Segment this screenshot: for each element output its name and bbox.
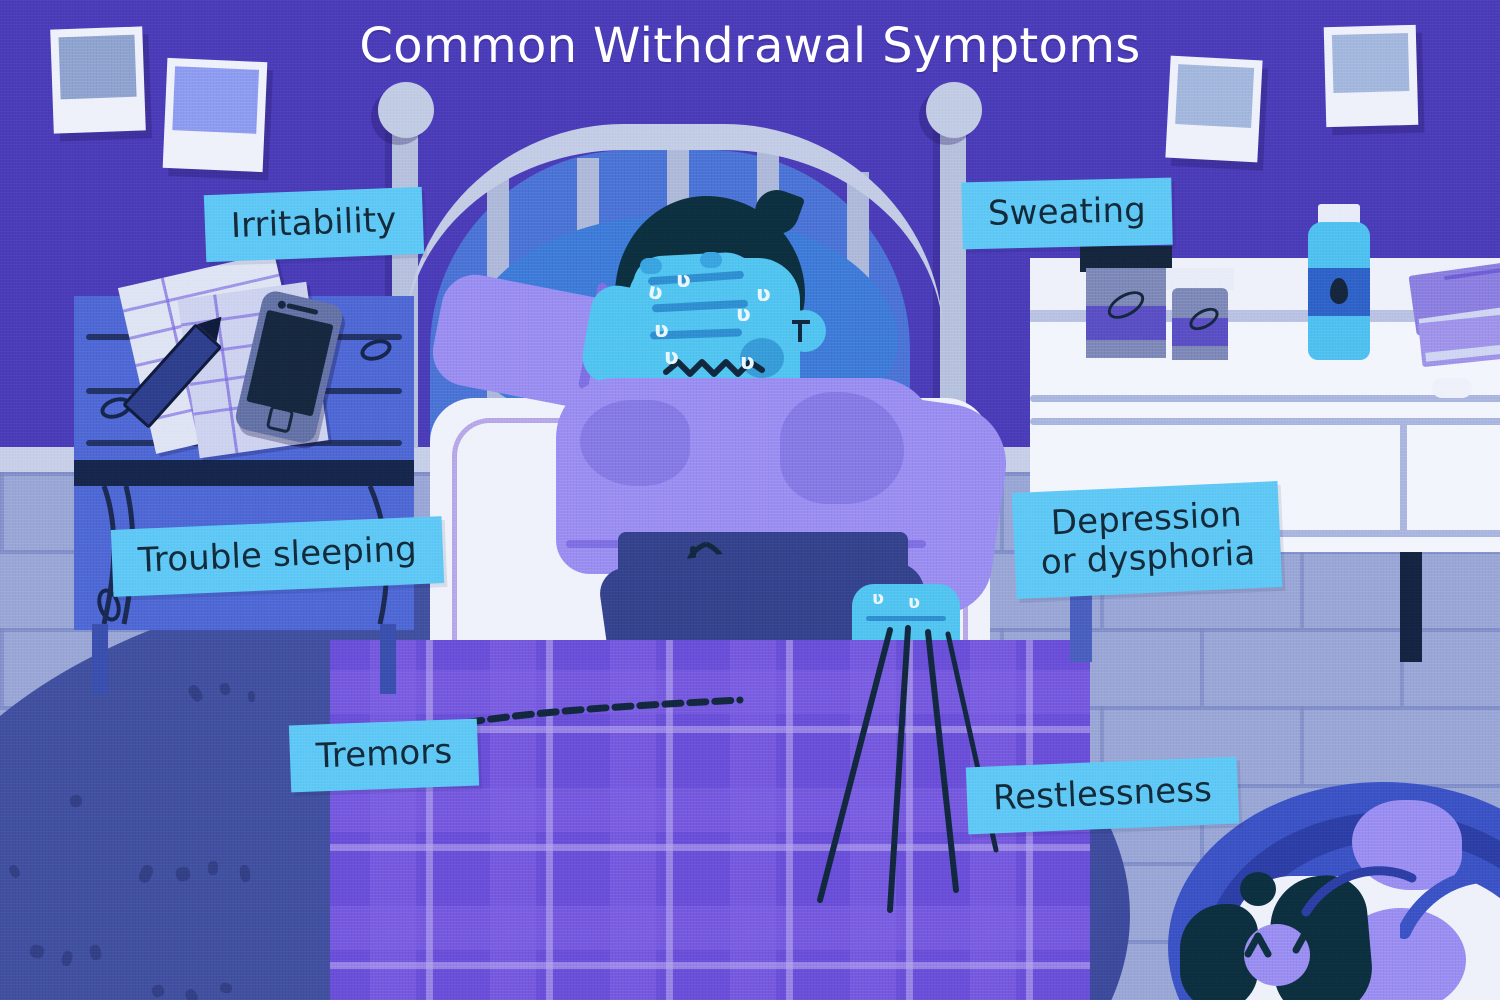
rug-texture-mark <box>89 944 103 961</box>
rug-texture-mark <box>150 983 166 998</box>
book-pages <box>1425 339 1500 362</box>
rug-texture-mark <box>186 683 204 703</box>
ear <box>784 310 826 352</box>
dog-nose <box>1240 872 1276 906</box>
rug-texture-mark <box>175 866 191 883</box>
sweat-drop: ʋ <box>740 350 755 375</box>
side-table-line <box>1030 418 1500 425</box>
nightstand-leg <box>92 624 108 694</box>
phone-speaker <box>286 303 318 315</box>
phone-screen <box>246 310 333 417</box>
sweat-drop: ʋ <box>654 318 669 343</box>
bed-finial-left <box>378 82 434 138</box>
rug-texture-mark <box>208 861 219 875</box>
sweat-drop: ʋ <box>736 302 751 327</box>
label-irritability[interactable]: Irritability <box>204 187 424 262</box>
fingernail <box>700 252 722 268</box>
ear-detail-2 <box>792 320 810 324</box>
label-depression-or-dysphoria[interactable]: Depression or dysphoria <box>1012 481 1283 598</box>
label-trouble-sleeping[interactable]: Trouble sleeping <box>111 516 444 597</box>
bed-finial-right <box>926 82 982 138</box>
rug-texture-mark <box>7 864 21 880</box>
rug-texture-mark <box>137 863 155 884</box>
plaid-line-horizontal <box>330 962 1090 969</box>
pill-bottle-1 <box>1086 268 1166 358</box>
side-table-divider <box>1400 422 1407 532</box>
rug-texture-mark <box>60 950 73 967</box>
label-tremors[interactable]: Tremors <box>289 719 480 793</box>
dog-paw <box>1300 858 1420 928</box>
shirt-shading <box>780 392 904 504</box>
sweat-drop: ʋ <box>676 268 691 293</box>
phone-home-button[interactable] <box>266 405 295 434</box>
brick-seam <box>1300 706 1304 784</box>
rug-texture-mark <box>248 691 256 702</box>
label-sweating[interactable]: Sweating <box>961 178 1172 249</box>
rug-texture-mark <box>218 682 231 696</box>
illustration-canvas: ʋ ʋ ʋ ʋ ʋ ʋ ʋ ʋ ʋ <box>0 0 1500 1000</box>
sweat-drop: ʋ <box>664 345 679 370</box>
rug-texture-mark <box>183 987 200 1000</box>
book-round-item <box>1432 378 1472 398</box>
bottle-body <box>1308 222 1370 360</box>
water-drop-icon <box>1330 278 1348 304</box>
pill-bottle-cap <box>1166 268 1234 290</box>
shirt-shading <box>580 400 690 486</box>
nightstand-leg <box>380 624 396 694</box>
brick-seam <box>1300 550 1304 628</box>
water-bottle <box>1308 222 1370 360</box>
side-table-leg <box>1400 552 1422 662</box>
photo-image <box>172 66 259 134</box>
label-restlessness[interactable]: Restlessness <box>966 757 1239 835</box>
polaroid-photo-2 <box>163 58 268 172</box>
brick-seam <box>1200 628 1204 706</box>
sweat-drop: ʋ <box>872 588 884 609</box>
phone-camera <box>277 300 287 310</box>
rug-texture-mark <box>219 982 233 995</box>
bottle-cap <box>1318 204 1360 224</box>
sweat-drop: ʋ <box>908 592 920 613</box>
rug-texture-mark <box>239 864 252 882</box>
rug-texture-mark <box>29 944 46 960</box>
sweat-drop: ʋ <box>756 282 771 307</box>
brick-seam <box>0 628 4 706</box>
rug-texture-mark <box>69 794 83 808</box>
fingernail <box>640 258 662 274</box>
side-table-line <box>1030 395 1500 402</box>
brick-seam <box>0 472 4 550</box>
pill-bottle-2 <box>1172 288 1228 360</box>
page-title: Common Withdrawal Symptoms <box>0 18 1500 74</box>
